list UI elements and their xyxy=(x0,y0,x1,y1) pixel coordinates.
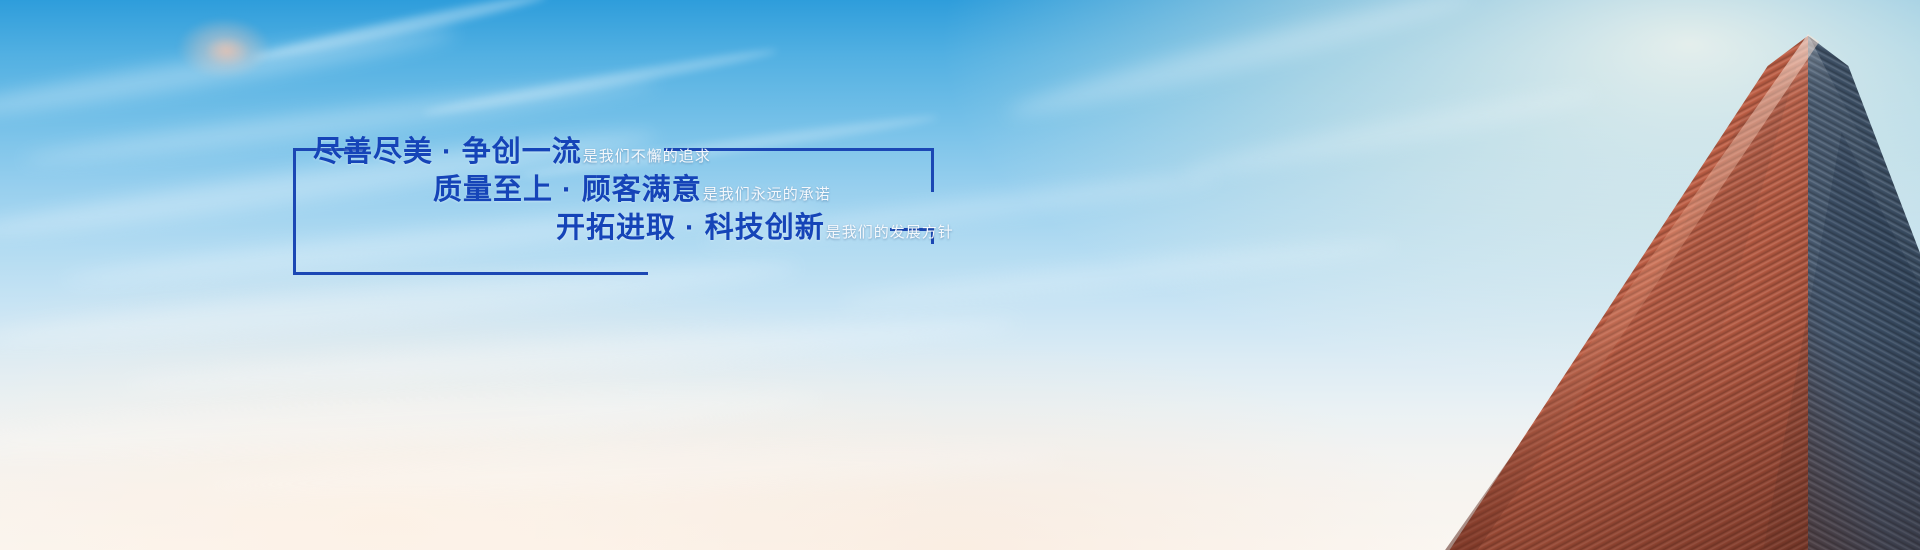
frame-right-vertical-stub xyxy=(931,148,934,192)
slogan-line-1-headline: 尽善尽美 · 争创一流 xyxy=(313,136,582,168)
slogan-line-3-subtext: 是我们的发展方针 xyxy=(826,224,954,241)
slogan-line-1-subtext: 是我们不懈的追求 xyxy=(583,148,711,165)
slogan-line-3: 开拓进取 · 科技创新是我们的发展方针 xyxy=(556,214,954,243)
hero-banner: 尽善尽美 · 争创一流是我们不懈的追求 质量至上 · 顾客满意是我们永远的承诺 … xyxy=(0,0,1920,550)
frame-left-vertical-rule xyxy=(293,148,296,275)
frame-bottom-horizontal-rule xyxy=(293,272,648,275)
slogan-line-1: 尽善尽美 · 争创一流是我们不懈的追求 xyxy=(313,138,711,167)
slogan-line-2-headline: 质量至上 · 顾客满意 xyxy=(433,174,702,206)
slogan-line-3-headline: 开拓进取 · 科技创新 xyxy=(556,212,825,244)
slogan-block: 尽善尽美 · 争创一流是我们不懈的追求 质量至上 · 顾客满意是我们永远的承诺 … xyxy=(0,0,1000,300)
slogan-line-2-subtext: 是我们永远的承诺 xyxy=(703,186,831,203)
slogan-line-2: 质量至上 · 顾客满意是我们永远的承诺 xyxy=(433,176,831,205)
